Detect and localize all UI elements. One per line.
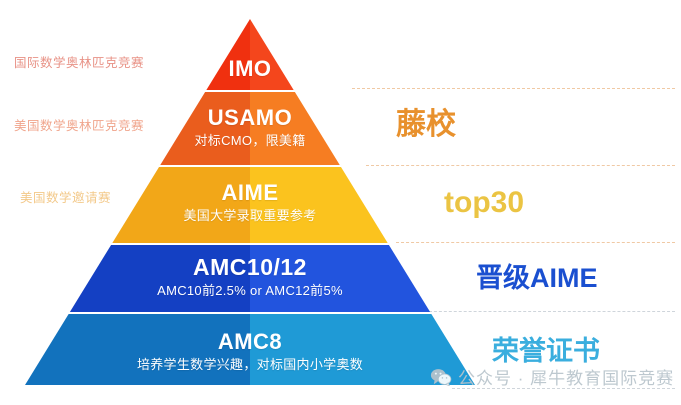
left-label-imo: 国际数学奥林匹克竞赛 bbox=[14, 57, 144, 70]
left-label-usamo: 美国数学奥林匹克竞赛 bbox=[14, 120, 144, 133]
right-label-aime-outcome: top30 bbox=[444, 188, 524, 218]
right-label-amc1012-outcome: 晋级AIME bbox=[476, 265, 598, 292]
right-label-amc8-outcome: 荣誉证书 bbox=[492, 338, 600, 365]
pyramid-infographic: IMO USAMO 对标CMO，限美籍 AIME 美国大学录取重要参考 AMC1… bbox=[0, 0, 681, 405]
right-label-usamo-outcome: 藤校 bbox=[396, 110, 456, 140]
pyramid-tier-aime bbox=[0, 167, 681, 243]
left-label-aime: 美国数学邀请赛 bbox=[20, 192, 111, 205]
pyramid-tier-imo bbox=[0, 19, 681, 90]
